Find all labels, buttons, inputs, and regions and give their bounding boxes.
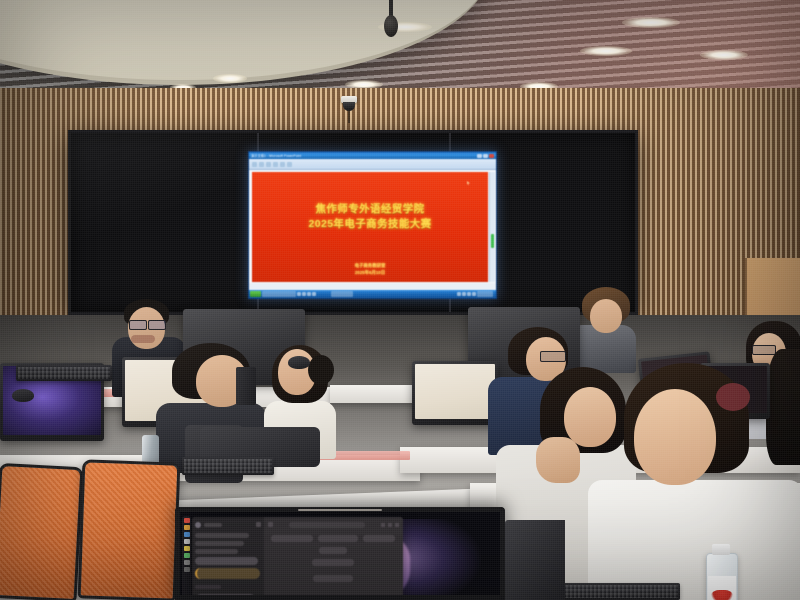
foreground-monitor[interactable]: [175, 507, 505, 600]
ceiling: [0, 0, 800, 92]
slide-subtitle-line-1: 电子商务教研室: [355, 262, 386, 269]
camera-cable: [348, 110, 350, 123]
undo-icon[interactable]: [259, 162, 264, 167]
window-controls[interactable]: [477, 154, 494, 158]
student6-torso: [588, 480, 800, 600]
print-icon[interactable]: [273, 162, 278, 167]
mouse-pointer: [467, 181, 470, 185]
scrollbar-thumb[interactable]: [491, 234, 494, 248]
foreground-monitor-bezel: [175, 507, 505, 600]
photo-scene: 演示文稿1 - Microsoft PowerPoint 焦作师专外语经贸学院 …: [0, 0, 800, 600]
glasses-icon: [752, 345, 776, 355]
computer-mouse[interactable]: [12, 389, 34, 402]
chevron-down-icon[interactable]: [287, 162, 292, 167]
monitor-document-2[interactable]: [412, 361, 498, 425]
downlight-5: [580, 46, 632, 56]
close-icon[interactable]: [489, 154, 494, 158]
student5-head: [564, 387, 616, 447]
water-bottle[interactable]: [706, 553, 738, 600]
slide-canvas[interactable]: 焦作师专外语经贸学院 2025年电子商务技能大赛 电子商务教研室 2025年6月…: [249, 170, 496, 283]
start-button[interactable]: [250, 291, 261, 297]
student5-hand: [536, 437, 580, 483]
desktop-keyboard[interactable]: [16, 365, 112, 381]
vertical-scrollbar[interactable]: [489, 172, 495, 282]
student4-head: [590, 299, 622, 333]
tray-icon-security[interactable]: [472, 292, 476, 296]
downlight-1: [213, 74, 247, 83]
slide-title-line-1: 焦作师专外语经贸学院: [316, 202, 425, 217]
maximize-icon[interactable]: [483, 154, 488, 158]
projected-powerpoint-window[interactable]: 演示文稿1 - Microsoft PowerPoint 焦作师专外语经贸学院 …: [248, 151, 497, 299]
instructor-mouth: [131, 335, 155, 343]
slideshow-icon[interactable]: [280, 162, 285, 167]
bottle-cap[interactable]: [712, 544, 730, 555]
tray-icon-volume[interactable]: [462, 292, 466, 296]
tray-icon-network[interactable]: [457, 292, 461, 296]
chair-mesh-texture: [0, 466, 80, 599]
document-page: [415, 364, 495, 419]
presentation-slide[interactable]: 焦作师专外语经贸学院 2025年电子商务技能大赛 电子商务教研室 2025年6月…: [252, 172, 488, 282]
quick-access-toolbar[interactable]: [249, 159, 496, 170]
taskbar-icon-browser[interactable]: [312, 292, 316, 296]
redo-icon[interactable]: [266, 162, 271, 167]
student2-bun: [308, 355, 334, 385]
monitor-light-reflection: [298, 509, 382, 511]
window-title-bar[interactable]: 演示文稿1 - Microsoft PowerPoint: [249, 152, 496, 159]
os-taskbar[interactable]: [249, 290, 496, 298]
desktop-keyboard[interactable]: [560, 583, 680, 600]
taskbar-item-powerpoint[interactable]: [262, 291, 296, 297]
tray-clock[interactable]: [477, 291, 493, 297]
glasses-icon: [129, 320, 147, 330]
glasses-icon: [540, 351, 566, 362]
bottle-label: [708, 576, 736, 600]
ceiling-pendant-speaker: [384, 15, 398, 37]
system-tray[interactable]: [457, 291, 495, 297]
taskbar-item-window[interactable]: [331, 291, 353, 297]
chair-backrest[interactable]: [0, 463, 83, 600]
downlight-4: [622, 17, 680, 28]
pc-tower[interactable]: [236, 367, 256, 405]
student8-hair: [766, 349, 800, 465]
downlight-7: [700, 50, 748, 60]
tray-icon-ime[interactable]: [467, 292, 471, 296]
slide-subtitle-line-2: 2025年6月10日: [355, 269, 385, 276]
taskbar-icon-ie[interactable]: [297, 292, 301, 296]
hair-tie: [716, 383, 750, 411]
taskbar-icon-folder[interactable]: [302, 292, 306, 296]
minimize-icon[interactable]: [477, 154, 482, 158]
bottle-brand-mark: [711, 590, 732, 600]
save-icon[interactable]: [252, 162, 257, 167]
chair-backrest[interactable]: [78, 459, 181, 600]
slide-title-line-2: 2025年电子商务技能大赛: [308, 217, 431, 232]
window-title-text: 演示文稿1 - Microsoft PowerPoint: [251, 153, 301, 158]
desktop-keyboard[interactable]: [182, 457, 274, 475]
student6-head: [634, 389, 716, 485]
monitor-stand-foreground: [505, 520, 565, 600]
taskbar-icon-media[interactable]: [307, 292, 311, 296]
chair-mesh-texture: [81, 462, 178, 598]
computer-mouse[interactable]: [288, 356, 310, 369]
glasses-icon: [148, 320, 166, 330]
